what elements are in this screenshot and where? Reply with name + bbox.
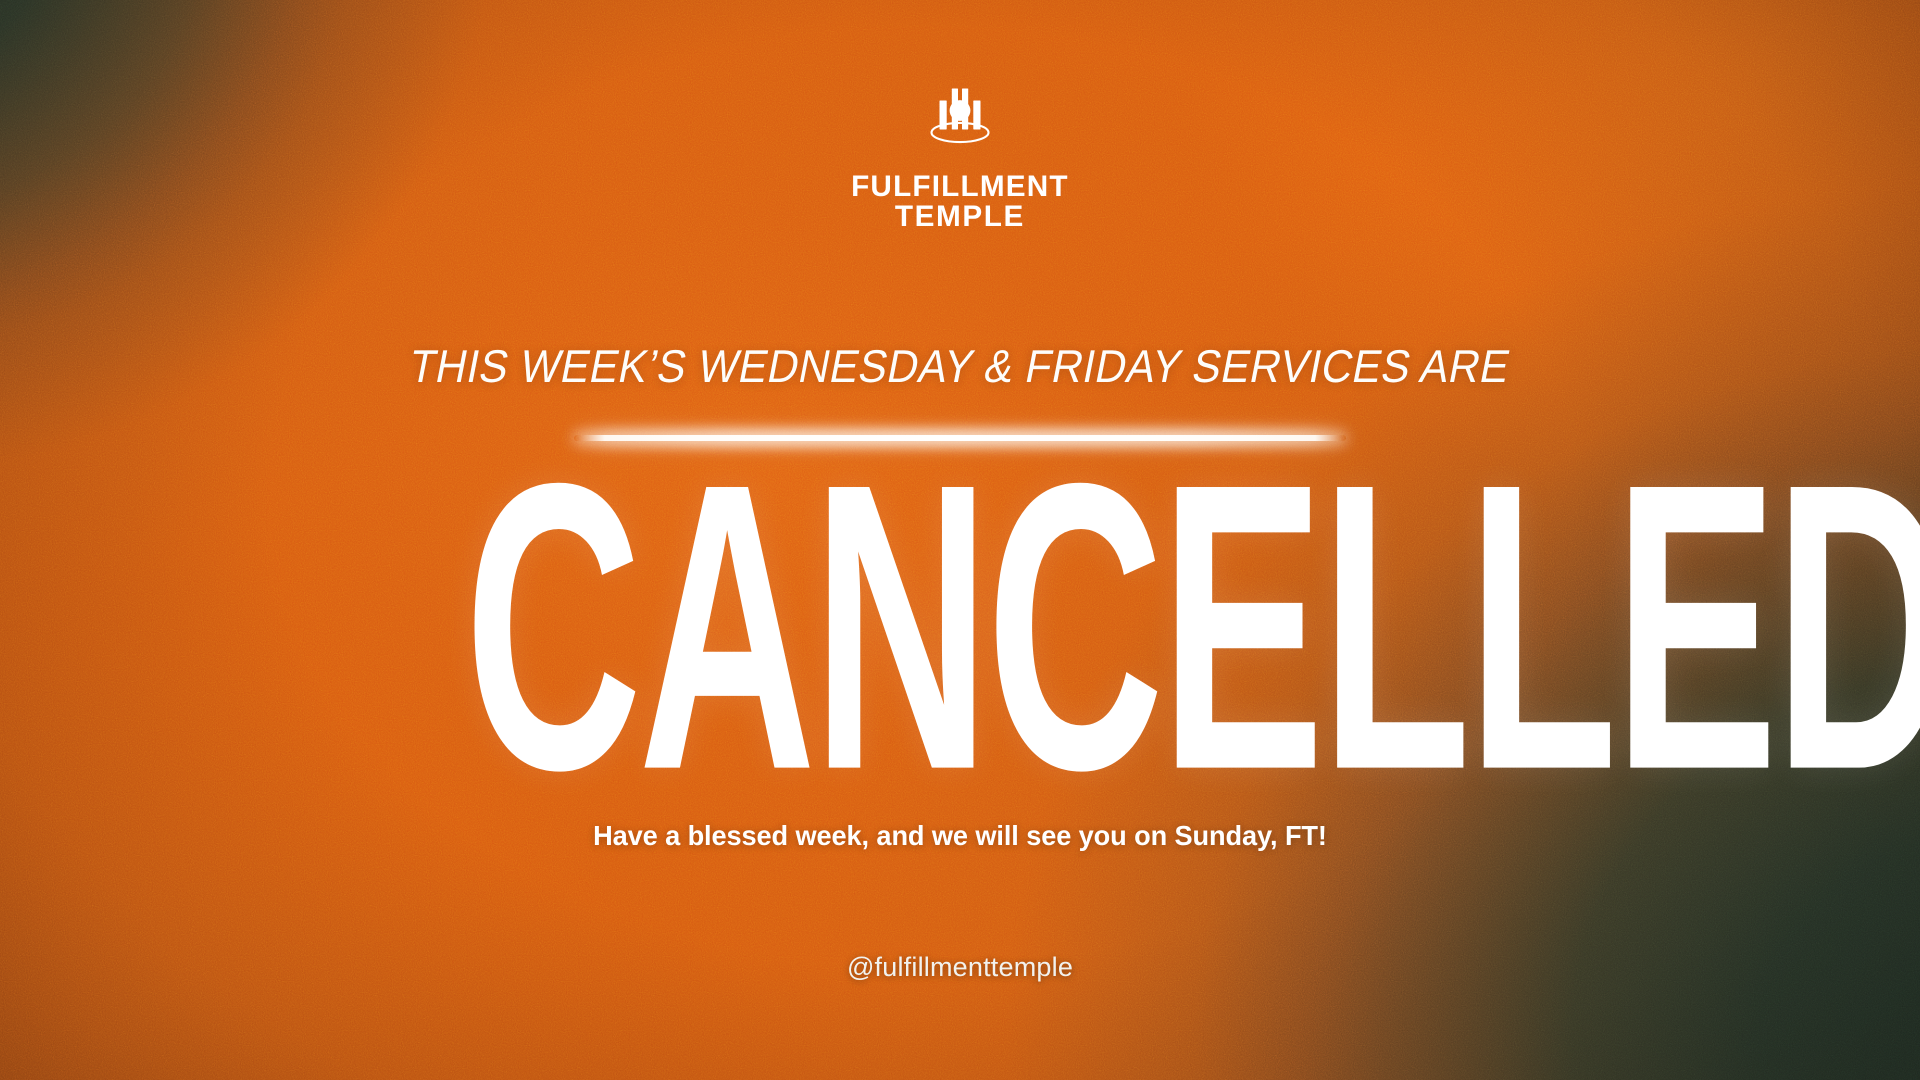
brand-wordmark-line1: FULFILLMENT bbox=[851, 170, 1069, 203]
brand-wordmark: FULFILLMENT TEMPLE bbox=[851, 172, 1069, 231]
brand-lockup: FULFILLMENT TEMPLE bbox=[750, 86, 1170, 231]
announcement-graphic: FULFILLMENT TEMPLE THIS WEEK’S WEDNESDAY… bbox=[0, 0, 1920, 1080]
social-handle: @fulfillmenttemple bbox=[847, 952, 1073, 983]
temple-pillars-orbit-icon bbox=[927, 86, 993, 150]
content-layer: FULFILLMENT TEMPLE THIS WEEK’S WEDNESDAY… bbox=[0, 0, 1920, 1080]
announcement-kicker: THIS WEEK’S WEDNESDAY & FRIDAY SERVICES … bbox=[406, 343, 1514, 389]
brand-wordmark-line2: TEMPLE bbox=[851, 202, 1069, 232]
announcement-submessage: Have a blessed week, and we will see you… bbox=[593, 820, 1327, 852]
headline-block: CANCELLED bbox=[0, 480, 1920, 768]
headline-cancelled: CANCELLED bbox=[464, 480, 1920, 774]
